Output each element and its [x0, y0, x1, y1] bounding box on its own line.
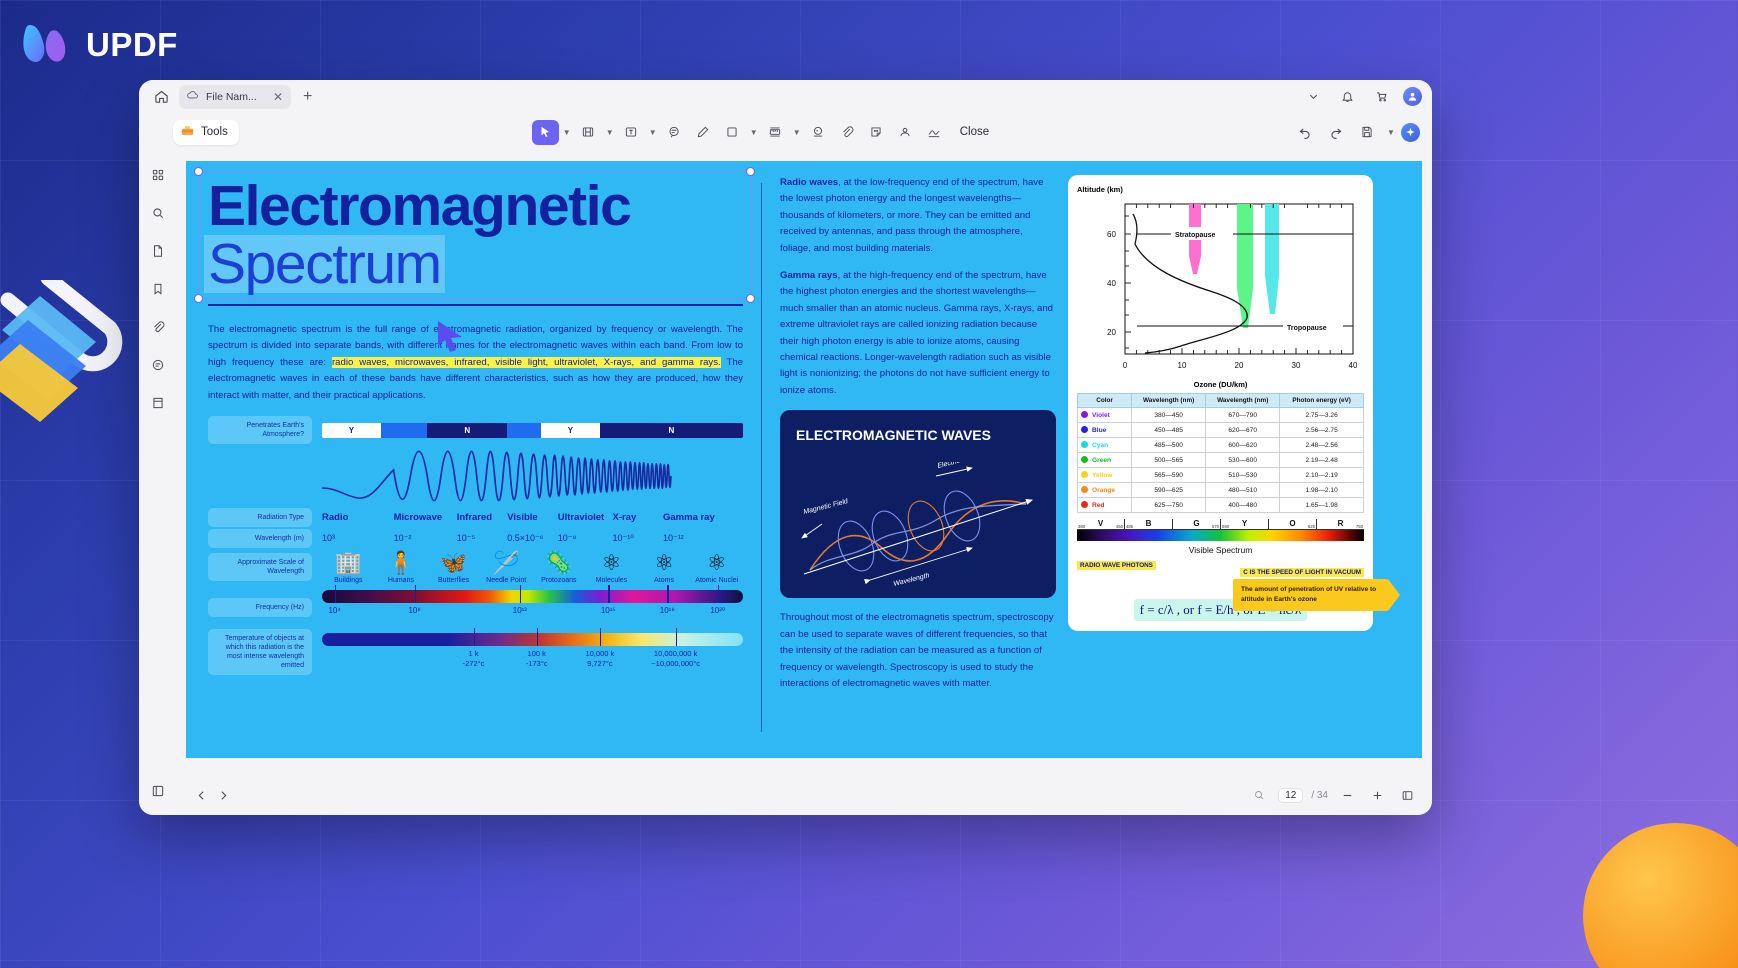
updf-logo-icon: [20, 22, 72, 68]
current-page-input[interactable]: 12: [1278, 788, 1303, 803]
row-wave: .: [208, 446, 743, 506]
svg-text:Tropopause: Tropopause: [1287, 325, 1327, 332]
radio-waves-paragraph: Radio waves, at the low-frequency end of…: [780, 175, 1056, 257]
color-swatch-icon: [1081, 411, 1088, 418]
note-speed-of-light: C IS THE SPEED OF LIGHT IN VACUUM: [1240, 568, 1364, 577]
band-start-value: 380: [1078, 524, 1085, 529]
measure-tool[interactable]: [762, 120, 789, 145]
plus-icon[interactable]: +: [297, 88, 318, 106]
temperature-gradient-bar: [322, 633, 743, 646]
note-radio-wave-photons: RADIO WAVE PHOTONS: [1077, 561, 1156, 570]
fit-page-button[interactable]: [1396, 784, 1418, 806]
tab-label: File Nam...: [206, 91, 266, 103]
resize-handle-tr[interactable]: [746, 167, 755, 176]
scale-caption: Protozoans: [533, 577, 586, 584]
photon-energy-cell: 2.75—3.26: [1280, 408, 1364, 423]
wavelength-value: 10⁻²: [394, 533, 457, 544]
bottom-paragraph: Throughout most of the electromagnetis s…: [780, 610, 1056, 692]
ozone-chart-ylabel: Altitude (km): [1077, 185, 1364, 194]
radio-waves-heading: Radio waves: [780, 177, 838, 188]
photon-energy-cell: 2.56—2.75: [1280, 423, 1364, 438]
band-end-value: 450: [1116, 524, 1123, 529]
radio-waves-text: , at the low-frequency end of the spectr…: [780, 177, 1043, 254]
wavelength1-cell: 485—500: [1132, 438, 1206, 453]
wavelength1-cell: 625—750: [1132, 498, 1206, 513]
color-name-cell: Blue: [1078, 423, 1132, 438]
frequency-ticks: 10⁴10⁸10¹²10¹⁵10¹⁸10²⁰: [322, 603, 743, 625]
right-text-column: Radio waves, at the low-frequency end of…: [780, 175, 1056, 758]
axis-tick-label: 1 k -272°c: [463, 649, 485, 669]
user-avatar-icon[interactable]: [1403, 87, 1422, 106]
zoom-out-button[interactable]: [1336, 784, 1358, 806]
axis-tick-label: 10²⁰: [710, 606, 725, 615]
comment-tool[interactable]: [661, 120, 688, 145]
radiation-type-label: Infrared: [457, 512, 508, 523]
waveform-graphic: [322, 446, 743, 506]
scale-glyph-icon: 🧍: [375, 550, 428, 576]
wavelength-value: 10⁻⁵: [457, 533, 508, 544]
page-left-column: Electromagnetic Spectrum The electromagn…: [186, 161, 761, 758]
axis-tick: [608, 585, 609, 603]
sidebar-item-attachments[interactable]: [146, 315, 170, 339]
toolbar-right-group: ▼: [1292, 120, 1420, 145]
ozone-chart: Stratopause Tropopause 604020: [1077, 196, 1364, 374]
scale-icon-list: 🏢Buildings🧍Humans🦋Butterflies🪡Needle Poi…: [322, 550, 743, 584]
scale-glyph-icon: 🏢: [322, 550, 375, 576]
tools-button[interactable]: Tools: [173, 120, 239, 145]
radiation-type-label: Radio: [322, 512, 394, 523]
axis-tick: [718, 585, 719, 603]
wavelength-value: 10³: [322, 533, 394, 544]
scale-caption: Atomic Nuclei: [690, 577, 743, 584]
chevron-down-icon[interactable]: [1301, 85, 1325, 109]
scale-icon-item: 🧍Humans: [375, 550, 428, 584]
color-name-cell: Green: [1078, 453, 1132, 468]
svg-text:Wavelength: Wavelength: [893, 572, 931, 588]
visible-spectrum-labels: V380450B485G570Y590O625R750: [1077, 519, 1364, 530]
scale-caption: Buildings: [322, 577, 375, 584]
radiation-type-label: Ultraviolet: [558, 512, 613, 523]
scale-caption: Humans: [375, 577, 428, 584]
em-waves-card-title: ELECTROMAGNETIC WAVES: [796, 426, 1040, 445]
band-start-value: 590: [1222, 524, 1229, 529]
color-swatch-icon: [1081, 471, 1088, 478]
wavelength2-cell: 670—790: [1206, 408, 1280, 423]
scale-icon-item: ⚛Molecules: [585, 550, 638, 584]
band-end-value: 750: [1356, 524, 1363, 529]
x-axis-tick-label: 20: [1235, 361, 1244, 370]
sign-tool[interactable]: [921, 120, 948, 145]
total-pages-label: / 34: [1311, 790, 1328, 801]
pencil-tool[interactable]: [690, 120, 717, 145]
wavelength1-cell: 565—590: [1132, 468, 1206, 483]
visible-band-label: B485: [1125, 519, 1173, 529]
visible-spectrum-caption: Visible Spectrum: [1077, 545, 1364, 555]
orange-circle-decoration: [1583, 823, 1738, 968]
selection-box: [198, 171, 751, 299]
wavelength1-cell: 500—565: [1132, 453, 1206, 468]
axis-tick: [520, 585, 521, 603]
tools-label: Tools: [201, 126, 228, 138]
row-label-wavelength: Wavelength (m): [208, 529, 312, 548]
svg-text:Magnetic Field: Magnetic Field: [803, 498, 850, 516]
svg-text:20: 20: [1107, 328, 1116, 337]
table-column-header: Wavelength (nm): [1132, 394, 1206, 408]
row-wavelength: Wavelength (m) 10³10⁻²10⁻⁵0.5×10⁻⁶10⁻⁸10…: [208, 529, 743, 548]
row-label-penetrates: Penetrates Earth's Atmosphere?: [208, 416, 312, 444]
bell-icon[interactable]: [1335, 85, 1359, 109]
zoom-in-button[interactable]: [1366, 784, 1388, 806]
photon-energy-cell: 2.48—2.56: [1280, 438, 1364, 453]
intro-highlight: radio waves, microwaves, infrared, visib…: [332, 357, 721, 368]
chevron-down-icon[interactable]: ▼: [561, 128, 573, 137]
wavelength2-cell: 600—620: [1206, 438, 1280, 453]
radiation-type-label: X-ray: [612, 512, 663, 523]
radiation-type-label: Microwave: [394, 512, 457, 523]
brand: UPDF: [20, 22, 178, 68]
x-axis-tick-label: 0: [1123, 361, 1128, 370]
axis-tick: [335, 585, 336, 603]
scale-icon-item: 🏢Buildings: [322, 550, 375, 584]
table-row: Blue450—485620—6702.56—2.75: [1078, 423, 1364, 438]
wavelength2-cell: 510—530: [1206, 468, 1280, 483]
scale-caption: Atoms: [638, 577, 691, 584]
penetration-segment: Y: [541, 423, 600, 438]
color-name-cell: Violet: [1078, 408, 1132, 423]
axis-tick-label: 10¹⁸: [660, 606, 675, 615]
wavelength2-cell: 620—670: [1206, 423, 1280, 438]
axis-tick-label: 10¹⁵: [601, 606, 616, 615]
column-divider: [761, 183, 762, 732]
cursor-pointer-icon: [436, 319, 466, 358]
sidebar-item-comments[interactable]: [146, 353, 170, 377]
page-footer: 12 / 34: [176, 775, 1432, 815]
sidebar-item-thumbnails[interactable]: [146, 163, 170, 187]
titlebar: File Nam... ✕ +: [139, 80, 1432, 113]
scale-glyph-icon: 🪡: [480, 550, 533, 576]
color-swatch-icon: [1081, 426, 1088, 433]
row-label-radiation-type: Radiation Type: [208, 508, 312, 527]
row-scale: Approximate Scale of Wavelength 🏢Buildin…: [208, 550, 743, 584]
axis-tick: [600, 628, 601, 646]
pdf-page: Electromagnetic Spectrum The electromagn…: [186, 161, 1422, 758]
annotation-toolbar: Tools ▼ ▼ ▼: [139, 113, 1432, 151]
row-temperature: Temperature of objects at which this rad…: [208, 629, 743, 675]
shape-tool[interactable]: [719, 120, 746, 145]
page-right-column: Radio waves, at the low-frequency end of…: [762, 161, 1422, 758]
axis-tick-label: 10¹²: [513, 606, 527, 615]
visible-band-label: V380450: [1077, 519, 1125, 529]
sidebar-item-layers[interactable]: [146, 391, 170, 415]
frequency-gradient-bar: [322, 590, 743, 603]
app-window: File Nam... ✕ +: [139, 80, 1432, 815]
color-swatch-icon: [1081, 501, 1088, 508]
scale-glyph-icon: ⚛: [690, 550, 743, 576]
svg-text:Electric Field: Electric Field: [937, 462, 979, 470]
chevron-down-icon[interactable]: ▼: [791, 128, 803, 137]
uv-penetration-callout: The amount of penetration of UV relative…: [1233, 579, 1388, 611]
redo-icon[interactable]: [1323, 120, 1350, 145]
table-row: Cyan485—500600—6202.48—2.56: [1078, 438, 1364, 453]
table-column-header: Color: [1078, 394, 1132, 408]
row-label-frequency: Frequency (Hz): [208, 598, 312, 617]
page-scroll[interactable]: Electromagnetic Spectrum The electromagn…: [176, 151, 1432, 775]
em-spectrum-chart: Penetrates Earth's Atmosphere? YNYN .: [208, 416, 743, 675]
color-swatch-icon: [1081, 456, 1088, 463]
x-axis-tick-label: 30: [1292, 361, 1301, 370]
sticker-tool[interactable]: [863, 120, 890, 145]
wavelength-list: 10³10⁻²10⁻⁵0.5×10⁻⁶10⁻⁸10⁻¹⁰10⁻¹²: [322, 533, 743, 544]
radiation-type-label: Visible: [507, 512, 558, 523]
paperclip-decoration: [0, 280, 160, 420]
photon-energy-cell: 1.98—2.10: [1280, 483, 1364, 498]
color-swatch-icon: [1081, 441, 1088, 448]
table-row: Green500—565530—6002.19—2.48: [1078, 453, 1364, 468]
scale-caption: Needle Point: [480, 577, 533, 584]
penetration-segment: [507, 423, 541, 438]
row-penetrates: Penetrates Earth's Atmosphere? YNYN: [208, 416, 743, 444]
scale-icon-item: ⚛Atoms: [638, 550, 691, 584]
radiation-type-label: Gamma ray: [663, 512, 743, 523]
svg-text:40: 40: [1107, 279, 1116, 288]
ozone-panel: Altitude (km): [1068, 175, 1373, 631]
wavelength1-cell: 590—625: [1132, 483, 1206, 498]
color-swatch-icon: [1081, 486, 1088, 493]
color-wavelength-table: ColorWavelength (nm)Wavelength (nm)Photo…: [1077, 393, 1364, 513]
visible-spectrum-bar: [1077, 530, 1364, 541]
document-tab[interactable]: File Nam... ✕: [179, 85, 291, 109]
axis-tick: [474, 628, 475, 646]
wavelength2-cell: 530—600: [1206, 453, 1280, 468]
gamma-rays-paragraph: Gamma rays, at the high-frequency end of…: [780, 268, 1056, 399]
home-icon[interactable]: [149, 85, 173, 109]
axis-tick-label: 10,000 k 9,727°c: [585, 649, 614, 669]
table-column-header: Photon energy (eV): [1280, 394, 1364, 408]
wavelength1-cell: 450—485: [1132, 423, 1206, 438]
axis-tick-label: 100 k -173°c: [526, 649, 548, 669]
text-tool[interactable]: [618, 120, 645, 145]
wavelength2-cell: 480—510: [1206, 483, 1280, 498]
scale-icon-item: 🦋Butterflies: [427, 550, 480, 584]
table-row: Yellow565—590510—5302.10—2.19: [1078, 468, 1364, 483]
color-name-cell: Cyan: [1078, 438, 1132, 453]
table-header-row: ColorWavelength (nm)Wavelength (nm)Photo…: [1078, 394, 1364, 408]
color-name-cell: Red: [1078, 498, 1132, 513]
row-label-temperature: Temperature of objects at which this rad…: [208, 629, 312, 675]
penetration-segment: N: [427, 423, 507, 438]
table-column-header: Wavelength (nm): [1206, 394, 1280, 408]
svg-text:60: 60: [1107, 230, 1116, 239]
axis-tick-label: 10,000,000 k ~10,000,000°c: [651, 649, 700, 669]
scale-glyph-icon: 🦠: [533, 550, 586, 576]
scale-glyph-icon: 🦋: [427, 550, 480, 576]
prev-page-button[interactable]: [190, 784, 212, 806]
toolbox-icon: [180, 123, 195, 141]
signature-tool[interactable]: [892, 120, 919, 145]
gamma-rays-heading: Gamma rays: [780, 270, 838, 281]
scale-icon-item: ⚛Atomic Nuclei: [690, 550, 743, 584]
scale-caption: Butterflies: [427, 577, 480, 584]
close-icon[interactable]: ✕: [273, 90, 283, 104]
color-name-cell: Orange: [1078, 483, 1132, 498]
zoom-reset-button[interactable]: [1248, 784, 1270, 806]
photon-energy-cell: 2.19—2.48: [1280, 453, 1364, 468]
axis-tick: [537, 628, 538, 646]
sidebar-item-pages[interactable]: [146, 239, 170, 263]
penetration-segment: Y: [322, 423, 381, 438]
resize-handle-tl[interactable]: [194, 167, 203, 176]
table-row: Red625—750400—4801.65—1.98: [1078, 498, 1364, 513]
chevron-down-icon[interactable]: ▼: [647, 128, 659, 137]
document-area: Electromagnetic Spectrum The electromagn…: [176, 151, 1432, 815]
save-icon[interactable]: [1354, 120, 1381, 145]
scale-icon-item: 🪡Needle Point: [480, 550, 533, 584]
app-body: Electromagnetic Spectrum The electromagn…: [139, 151, 1432, 815]
band-end-value: 570: [1212, 524, 1219, 529]
chevron-down-icon[interactable]: ▼: [604, 128, 616, 137]
scale-caption: Molecules: [585, 577, 638, 584]
visible-band-label: Y590: [1221, 519, 1269, 529]
visible-band-label: O625: [1269, 519, 1317, 529]
brand-name: UPDF: [86, 26, 178, 64]
chevron-down-icon[interactable]: ▼: [1385, 128, 1397, 137]
wavelength2-cell: 400—480: [1206, 498, 1280, 513]
x-axis-tick-label: 10: [1178, 361, 1187, 370]
color-name-cell: Yellow: [1078, 468, 1132, 483]
axis-tick: [676, 628, 677, 646]
intro-paragraph: The electromagnetic spectrum is the full…: [208, 322, 743, 405]
photon-energy-cell: 1.65—1.98: [1280, 498, 1364, 513]
photon-energy-cell: 2.10—2.19: [1280, 468, 1364, 483]
select-tool[interactable]: [532, 120, 559, 145]
em-waves-card: ELECTROMAGNETIC WAVES: [780, 410, 1056, 598]
tool-group: ▼ ▼ ▼: [532, 120, 999, 145]
table-row: Violet380—450670—7902.75—3.26: [1078, 408, 1364, 423]
sidebar-item-settings[interactable]: [146, 779, 170, 803]
penetration-segment: [381, 423, 427, 438]
axis-tick-label: 10⁸: [408, 606, 420, 615]
svg-text:Stratopause: Stratopause: [1175, 232, 1216, 239]
row-radiation-type: Radiation Type RadioMicrowaveInfraredVis…: [208, 508, 743, 527]
scale-glyph-icon: ⚛: [585, 550, 638, 576]
band-end-value: 625: [1308, 524, 1315, 529]
axis-tick: [667, 585, 668, 603]
scale-icon-item: 🦠Protozoans: [533, 550, 586, 584]
gamma-rays-text: , at the high-frequency end of the spect…: [780, 270, 1053, 396]
row-label-scale: Approximate Scale of Wavelength: [208, 553, 312, 581]
undo-icon[interactable]: [1292, 120, 1319, 145]
penetration-bar: YNYN: [322, 423, 743, 438]
resize-handle-br[interactable]: [746, 294, 755, 303]
ai-icon[interactable]: [1401, 123, 1420, 142]
wavelength-value: 10⁻¹⁰: [612, 533, 663, 544]
highlight-tool[interactable]: [575, 120, 602, 145]
sidebar-item-search[interactable]: [146, 201, 170, 225]
next-page-button[interactable]: [212, 784, 234, 806]
ozone-chart-xlabel: Ozone (DU/km): [1077, 380, 1364, 389]
visible-band-label: R750: [1317, 519, 1364, 529]
wavelength-value: 10⁻¹²: [663, 533, 743, 544]
x-axis-tick-label: 40: [1349, 361, 1358, 370]
visible-spectrum-figure: V380450B485G570Y590O625R750 Visible Spec…: [1077, 519, 1364, 555]
axis-tick: [415, 585, 416, 603]
wavelength-value: 10⁻⁸: [558, 533, 613, 544]
chevron-down-icon[interactable]: ▼: [748, 128, 760, 137]
penetration-segment: N: [600, 423, 743, 438]
wavelength-value: 0.5×10⁻⁶: [507, 533, 558, 544]
stamp-tool[interactable]: [805, 120, 832, 145]
title-divider: [208, 304, 743, 306]
cloud-icon: [187, 89, 199, 104]
row-frequency: Frequency (Hz) 10⁴10⁸10¹²10¹⁵10¹⁸10²⁰: [208, 590, 743, 625]
title-selection[interactable]: Electromagnetic Spectrum: [208, 179, 743, 293]
sidebar-item-bookmarks[interactable]: [146, 277, 170, 301]
attachment-tool[interactable]: [834, 120, 861, 145]
temperature-ticks: 1 k -272°c100 k -173°c10,000 k 9,727°c10…: [322, 646, 743, 672]
visible-band-label: G570: [1173, 519, 1221, 529]
left-sidebar: [139, 151, 176, 815]
cart-icon[interactable]: [1369, 85, 1393, 109]
scale-glyph-icon: ⚛: [638, 550, 691, 576]
table-row: Orange590—625480—5101.98—2.10: [1078, 483, 1364, 498]
close-annotation-button[interactable]: Close: [950, 120, 999, 145]
radiation-type-list: RadioMicrowaveInfraredVisibleUltraviolet…: [322, 512, 743, 523]
resize-handle-bl[interactable]: [194, 294, 203, 303]
band-start-value: 485: [1126, 524, 1133, 529]
wavelength1-cell: 380—450: [1132, 408, 1206, 423]
axis-tick-label: 10⁴: [328, 606, 340, 615]
